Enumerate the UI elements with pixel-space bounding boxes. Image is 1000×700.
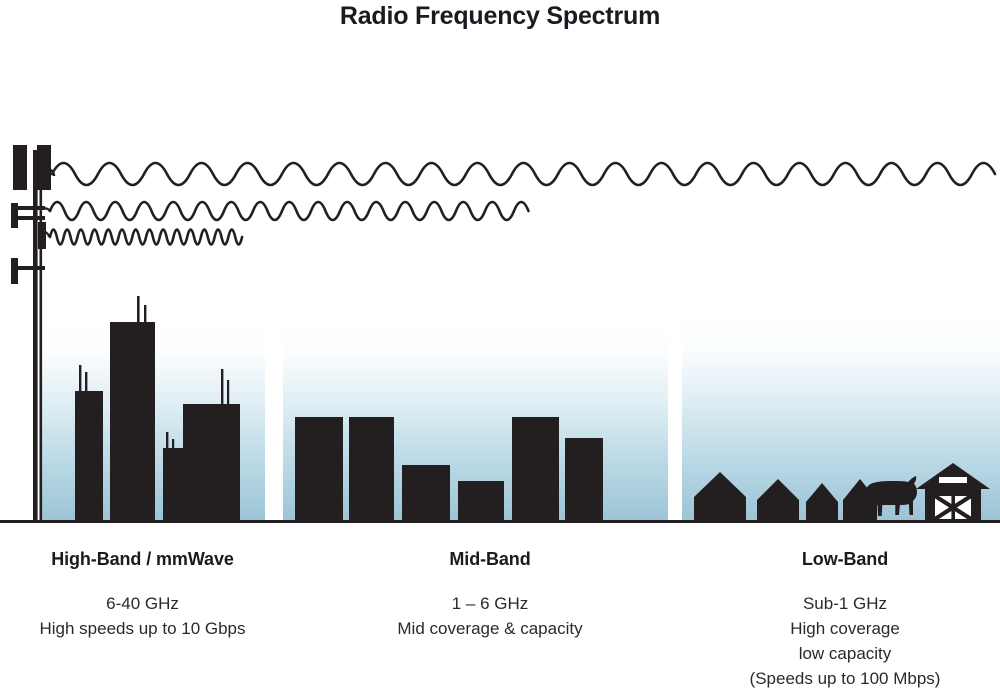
band-frequency-mid-band: 1 – 6 GHz xyxy=(345,592,635,617)
band-description-high-band: 6-40 GHz High speeds up to 10 Gbps xyxy=(0,592,285,642)
band-trait-low-band-1: High coverage xyxy=(700,617,990,642)
band-label-mid-band: Mid-Band xyxy=(345,549,635,570)
band-frequency-high-band: 6-40 GHz xyxy=(0,592,285,617)
band-trait-low-band-3: (Speeds up to 100 Mbps) xyxy=(700,667,990,692)
mid-frequency-wave-icon xyxy=(50,202,529,220)
band-description-mid-band: 1 – 6 GHz Mid coverage & capacity xyxy=(345,592,635,642)
band-description-low-band: Sub-1 GHz High coverage low capacity (Sp… xyxy=(700,592,990,692)
band-trait-low-band-2: low capacity xyxy=(700,642,990,667)
high-frequency-wave-icon xyxy=(50,230,242,245)
infographic-canvas: Radio Frequency Spectrum xyxy=(0,0,1000,700)
band-label-high-band: High-Band / mmWave xyxy=(0,549,285,570)
low-frequency-wave-icon xyxy=(52,163,995,185)
band-trait-mid-band-1: Mid coverage & capacity xyxy=(345,617,635,642)
wave-group xyxy=(50,163,995,245)
band-frequency-low-band: Sub-1 GHz xyxy=(700,592,990,617)
band-label-low-band: Low-Band xyxy=(700,549,990,570)
band-trait-high-band-1: High speeds up to 10 Gbps xyxy=(0,617,285,642)
